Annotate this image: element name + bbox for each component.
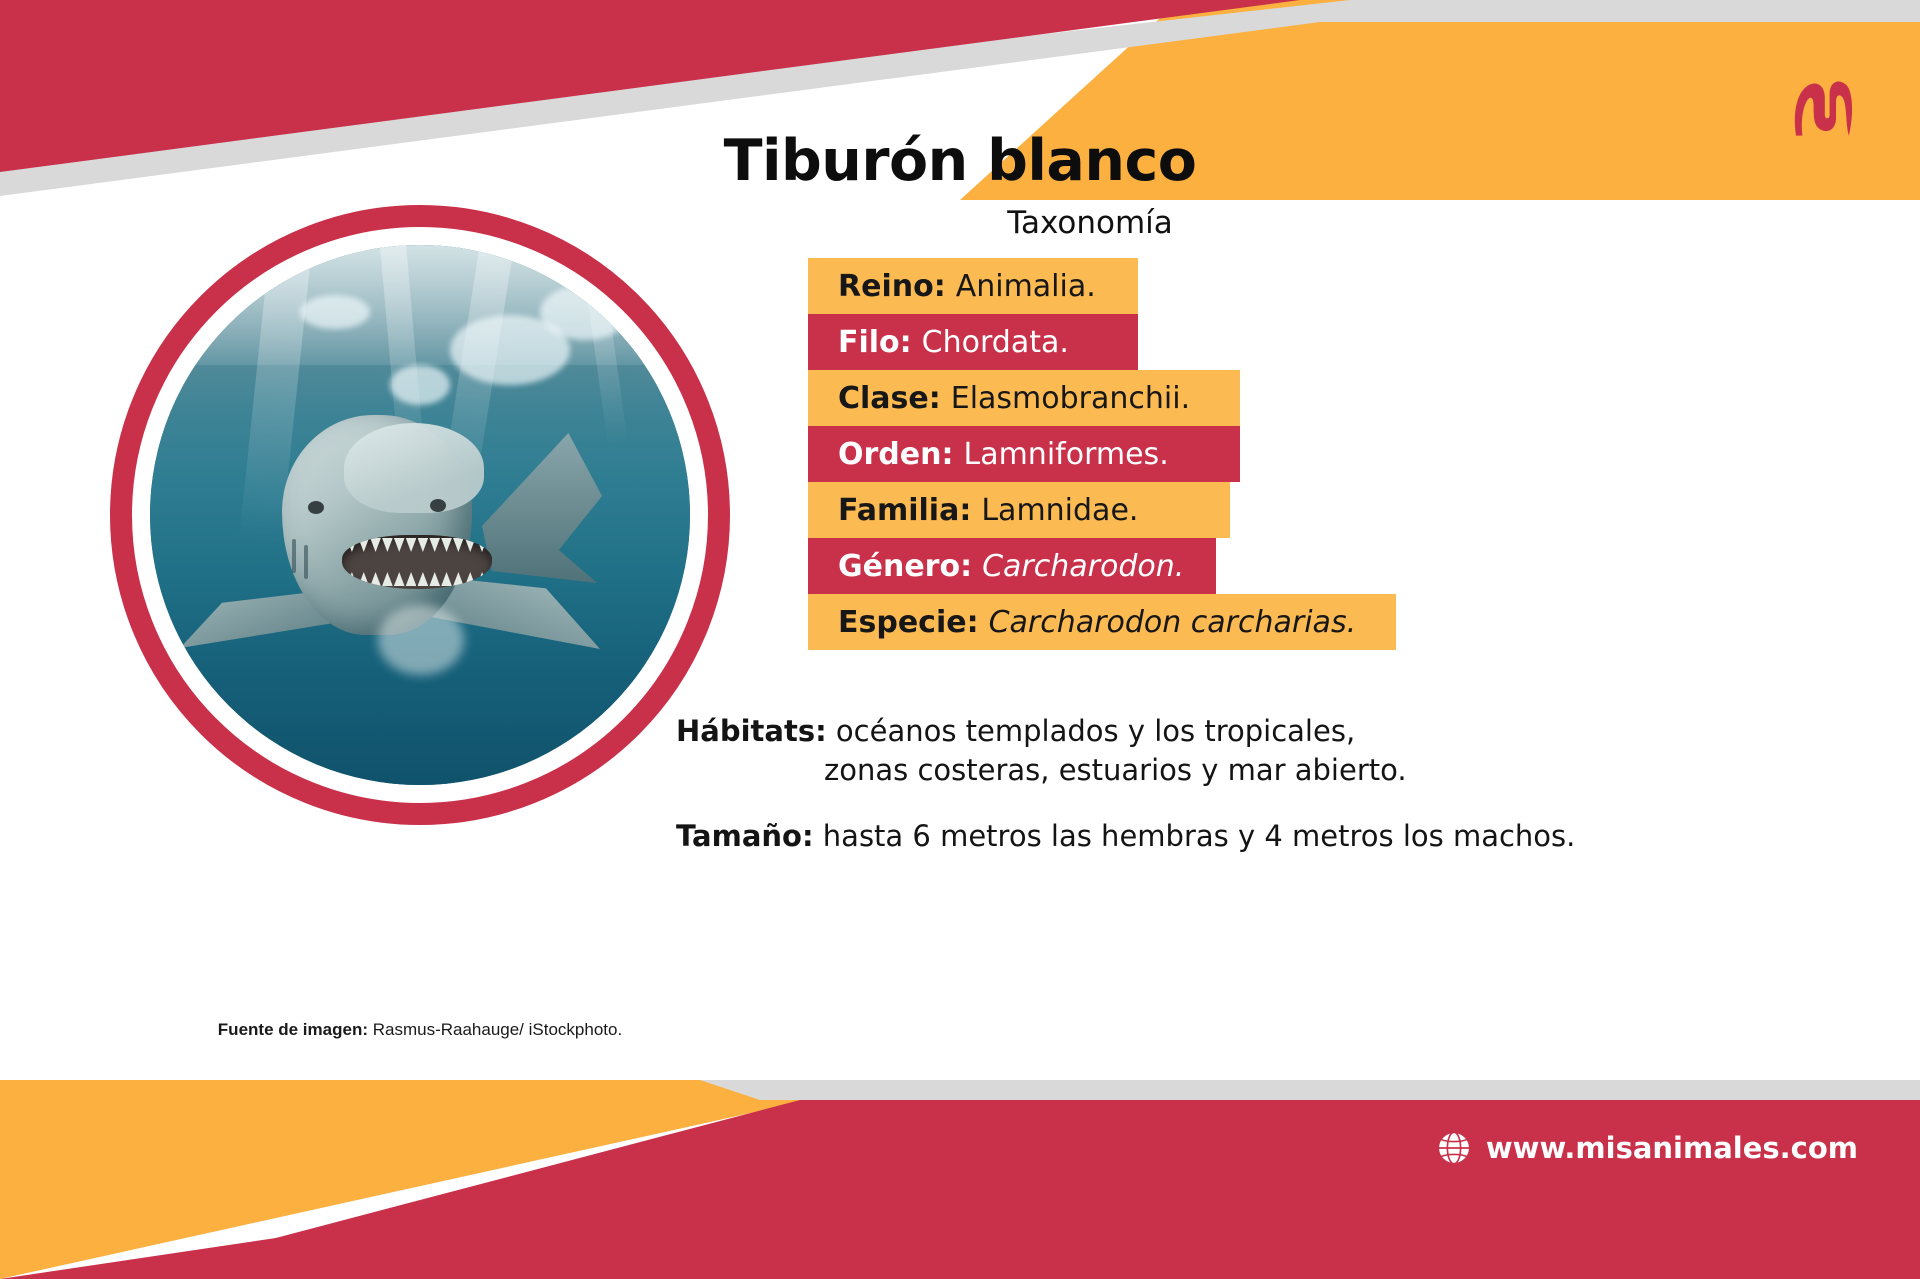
- taxonomy-rank-label: Género:: [838, 549, 972, 584]
- size-value: hasta 6 metros las hembras y 4 metros lo…: [823, 819, 1576, 853]
- taxonomy-row: Orden:Lamniformes.: [808, 426, 1240, 482]
- taxonomy-rank-value: Lamnidae.: [981, 493, 1138, 528]
- infographic-canvas: Tiburón blanco: [0, 0, 1920, 1279]
- page-title: Tiburón blanco: [0, 128, 1920, 194]
- taxonomy-row: Filo:Chordata.: [808, 314, 1138, 370]
- taxonomy-row: Clase:Elasmobranchii.: [808, 370, 1240, 426]
- size-label: Tamaño:: [676, 819, 814, 853]
- taxonomy-row: Reino:Animalia.: [808, 258, 1138, 314]
- website-label: www.misanimales.com: [1486, 1131, 1858, 1165]
- taxonomy-rank-value: Carcharodon.: [982, 549, 1184, 584]
- globe-icon: [1436, 1130, 1472, 1166]
- taxonomy-row: Familia:Lamnidae.: [808, 482, 1230, 538]
- photo-credit-label: Fuente de imagen:: [218, 1020, 368, 1039]
- taxonomy-rank-label: Filo:: [838, 325, 912, 360]
- photo-circle-frame: [110, 205, 730, 825]
- taxonomy-rank-value: Chordata.: [922, 325, 1069, 360]
- taxonomy-rank-label: Reino:: [838, 269, 946, 304]
- taxonomy-heading: Taxonomía: [760, 205, 1420, 241]
- size-fact: Tamaño: hasta 6 metros las hembras y 4 m…: [676, 817, 1836, 856]
- taxonomy-row: Género:Carcharodon.: [808, 538, 1216, 594]
- habitat-line-2: zonas costeras, estuarios y mar abierto.: [676, 751, 1836, 790]
- website-link[interactable]: www.misanimales.com: [1436, 1130, 1858, 1166]
- photo-credit: Fuente de imagen: Rasmus-Raahauge/ iStoc…: [110, 1020, 730, 1040]
- taxonomy-rank-label: Especie:: [838, 605, 979, 640]
- animal-photo: [110, 205, 730, 825]
- taxonomy-rank-value: Animalia.: [956, 269, 1096, 304]
- taxonomy-list: Reino:Animalia.Filo:Chordata.Clase:Elasm…: [808, 258, 1396, 650]
- taxonomy-rank-label: Familia:: [838, 493, 971, 528]
- taxonomy-rank-label: Clase:: [838, 381, 941, 416]
- taxonomy-rank-value: Elasmobranchii.: [951, 381, 1190, 416]
- taxonomy-rank-value: Lamniformes.: [963, 437, 1168, 472]
- photo-credit-value: Rasmus-Raahauge/ iStockphoto.: [373, 1020, 622, 1039]
- facts-block: Hábitats: océanos templados y los tropic…: [676, 712, 1836, 862]
- taxonomy-rank-value: Carcharodon carcharias.: [989, 605, 1357, 640]
- taxonomy-rank-label: Orden:: [838, 437, 953, 472]
- habitat-line-1: océanos templados y los tropicales,: [836, 714, 1355, 748]
- habitat-label: Hábitats:: [676, 714, 827, 748]
- bottom-red-strip: [0, 1230, 1920, 1279]
- habitat-fact: Hábitats: océanos templados y los tropic…: [676, 712, 1836, 791]
- taxonomy-row: Especie:Carcharodon carcharias.: [808, 594, 1396, 650]
